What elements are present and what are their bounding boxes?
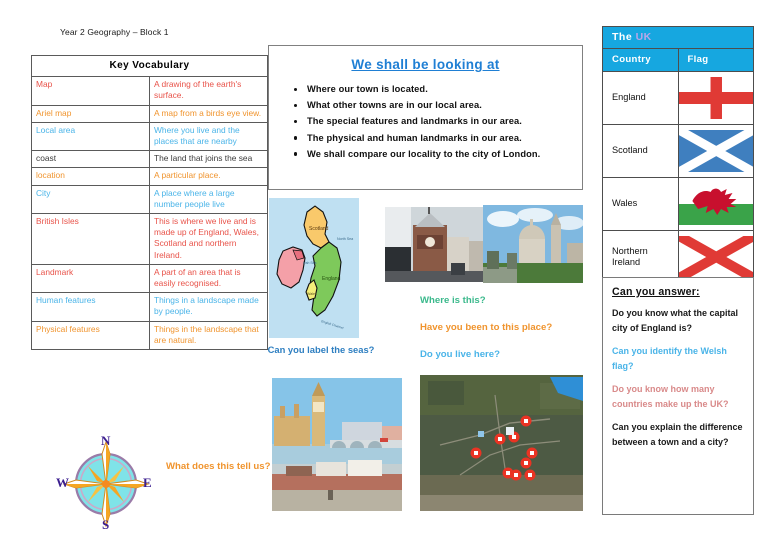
label-seas-caption: Can you label the seas? xyxy=(266,342,376,358)
table-row: locationA particular place. xyxy=(32,168,268,185)
vocabulary-definition: A part of an area that is easily recogni… xyxy=(150,264,268,292)
table-row: Ariel mapA map from a birds eye view. xyxy=(32,105,268,122)
table-row: Northern Ireland xyxy=(603,231,754,284)
list-item: We shall compare our locality to the cit… xyxy=(307,146,574,162)
table-row: LandmarkA part of an area that is easily… xyxy=(32,264,268,292)
table-row: Physical featuresThings in the landscape… xyxy=(32,321,268,349)
wales-flag-icon xyxy=(679,183,754,225)
uk-table-title: The UK xyxy=(603,27,754,49)
can-you-answer-box: Can you answer: Do you know what the cap… xyxy=(602,277,754,515)
compass-question: What does this tell us? xyxy=(166,458,276,475)
svg-text:Wales: Wales xyxy=(307,292,317,296)
uk-country-name: Scotland xyxy=(603,125,679,178)
london-photo-icon xyxy=(272,378,402,511)
uk-header-row: Country Flag xyxy=(603,49,754,72)
svg-text:England: England xyxy=(322,276,341,282)
vocabulary-term: City xyxy=(32,185,150,213)
england-flag-icon xyxy=(679,77,754,119)
table-row: Wales xyxy=(603,178,754,231)
looking-at-list: Where our town is located.What other tow… xyxy=(269,81,582,162)
worksheet-page: Year 2 Geography – Block 1 Key Vocabular… xyxy=(0,0,768,540)
table-row: British IslesThis is where we live and i… xyxy=(32,214,268,265)
uk-map-image: Scotland England Wales North Sea Irish S… xyxy=(269,198,359,338)
uk-country-name: Northern Ireland xyxy=(603,231,679,284)
big-ben-westminster-photo xyxy=(272,378,402,511)
uk-flag-cell xyxy=(678,72,754,125)
vocabulary-term: Local area xyxy=(32,122,150,150)
table-row: coastThe land that joins the sea xyxy=(32,151,268,168)
town-photo-icon xyxy=(385,207,483,282)
vocabulary-definition: A map from a birds eye view. xyxy=(150,105,268,122)
st-pauls-cathedral-photo xyxy=(483,205,583,283)
table-row: Local areaWhere you live and the places … xyxy=(32,122,268,150)
uk-country-name: England xyxy=(603,72,679,125)
vocabulary-definition: Where you live and the places that are n… xyxy=(150,122,268,150)
looking-at-box: We shall be looking at Where our town is… xyxy=(268,45,583,190)
compass-rose: N S W E xyxy=(58,434,154,534)
uk-header-flag: Flag xyxy=(678,49,754,72)
answer-question: Do you know what the capital city of Eng… xyxy=(612,306,744,335)
cathedral-photo-icon xyxy=(483,205,583,283)
page-title: Year 2 Geography – Block 1 xyxy=(60,27,169,37)
table-row: CityA place where a large number people … xyxy=(32,185,268,213)
mid-question-1: Have you been to this place? xyxy=(420,322,552,333)
vocabulary-definition: This is where we live and is made up of … xyxy=(150,214,268,265)
svg-text:Scotland: Scotland xyxy=(309,226,329,232)
uk-flag-cell xyxy=(678,125,754,178)
svg-text:North Sea: North Sea xyxy=(337,237,353,241)
compass-east-label: E xyxy=(143,475,152,491)
table-row: Scotland xyxy=(603,125,754,178)
list-item: What other towns are in our local area. xyxy=(307,97,574,113)
vocabulary-heading: Key Vocabulary xyxy=(32,56,268,77)
vocabulary-term: coast xyxy=(32,151,150,168)
key-vocabulary-table: Key Vocabulary MapA drawing of the earth… xyxy=(31,55,268,350)
looking-at-heading: We shall be looking at xyxy=(269,46,582,72)
uk-title-accent: UK xyxy=(636,31,652,43)
vocabulary-definition: A drawing of the earth's surface. xyxy=(150,77,268,105)
town-clock-tower-photo xyxy=(385,207,483,282)
satellite-map-photo xyxy=(420,375,583,511)
table-row: MapA drawing of the earth's surface. xyxy=(32,77,268,105)
mid-question-2: Do you live here? xyxy=(420,349,500,360)
vocabulary-term: Map xyxy=(32,77,150,105)
list-item: Where our town is located. xyxy=(307,81,574,97)
answer-question: Can you explain the difference between a… xyxy=(612,420,744,449)
compass-south-label: S xyxy=(102,517,109,533)
answer-question: Do you know how many countries make up t… xyxy=(612,382,744,411)
list-item: The special features and landmarks in ou… xyxy=(307,113,574,129)
compass-west-label: W xyxy=(56,475,69,491)
uk-title-prefix: The xyxy=(612,31,636,43)
uk-countries-table: The UK Country Flag EnglandScotlandWales… xyxy=(602,26,754,284)
uk-flag-cell xyxy=(678,231,754,284)
table-row: England xyxy=(603,72,754,125)
uk-outline-map-icon: Scotland England Wales North Sea Irish S… xyxy=(269,198,359,338)
answer-question: Can you identify the Welsh flag? xyxy=(612,344,744,373)
vocabulary-term: Landmark xyxy=(32,264,150,292)
uk-flag-cell xyxy=(678,178,754,231)
satellite-map-icon xyxy=(420,375,583,511)
uk-header-country: Country xyxy=(603,49,679,72)
vocabulary-definition: Things in a landscape made by people. xyxy=(150,293,268,321)
compass-north-label: N xyxy=(101,433,110,449)
vocabulary-term: Ariel map xyxy=(32,105,150,122)
scotland-flag-icon xyxy=(679,130,754,172)
vocabulary-definition: Things in the landscape that are natural… xyxy=(150,321,268,349)
vocabulary-term: Physical features xyxy=(32,321,150,349)
uk-country-name: Wales xyxy=(603,178,679,231)
northern-ireland-flag-icon xyxy=(679,236,754,278)
table-header-row: Key Vocabulary xyxy=(32,56,268,77)
mid-question-0: Where is this? xyxy=(420,295,486,306)
uk-title-row: The UK xyxy=(603,27,754,49)
vocabulary-definition: A particular place. xyxy=(150,168,268,185)
vocabulary-term: British Isles xyxy=(32,214,150,265)
table-row: Human featuresThings in a landscape made… xyxy=(32,293,268,321)
vocabulary-term: location xyxy=(32,168,150,185)
vocabulary-definition: The land that joins the sea xyxy=(150,151,268,168)
vocabulary-term: Human features xyxy=(32,293,150,321)
svg-text:Irish Sea: Irish Sea xyxy=(303,261,316,265)
vocabulary-definition: A place where a large number people live xyxy=(150,185,268,213)
can-you-answer-heading: Can you answer: xyxy=(612,286,744,298)
list-item: The physical and human landmarks in our … xyxy=(307,130,574,146)
